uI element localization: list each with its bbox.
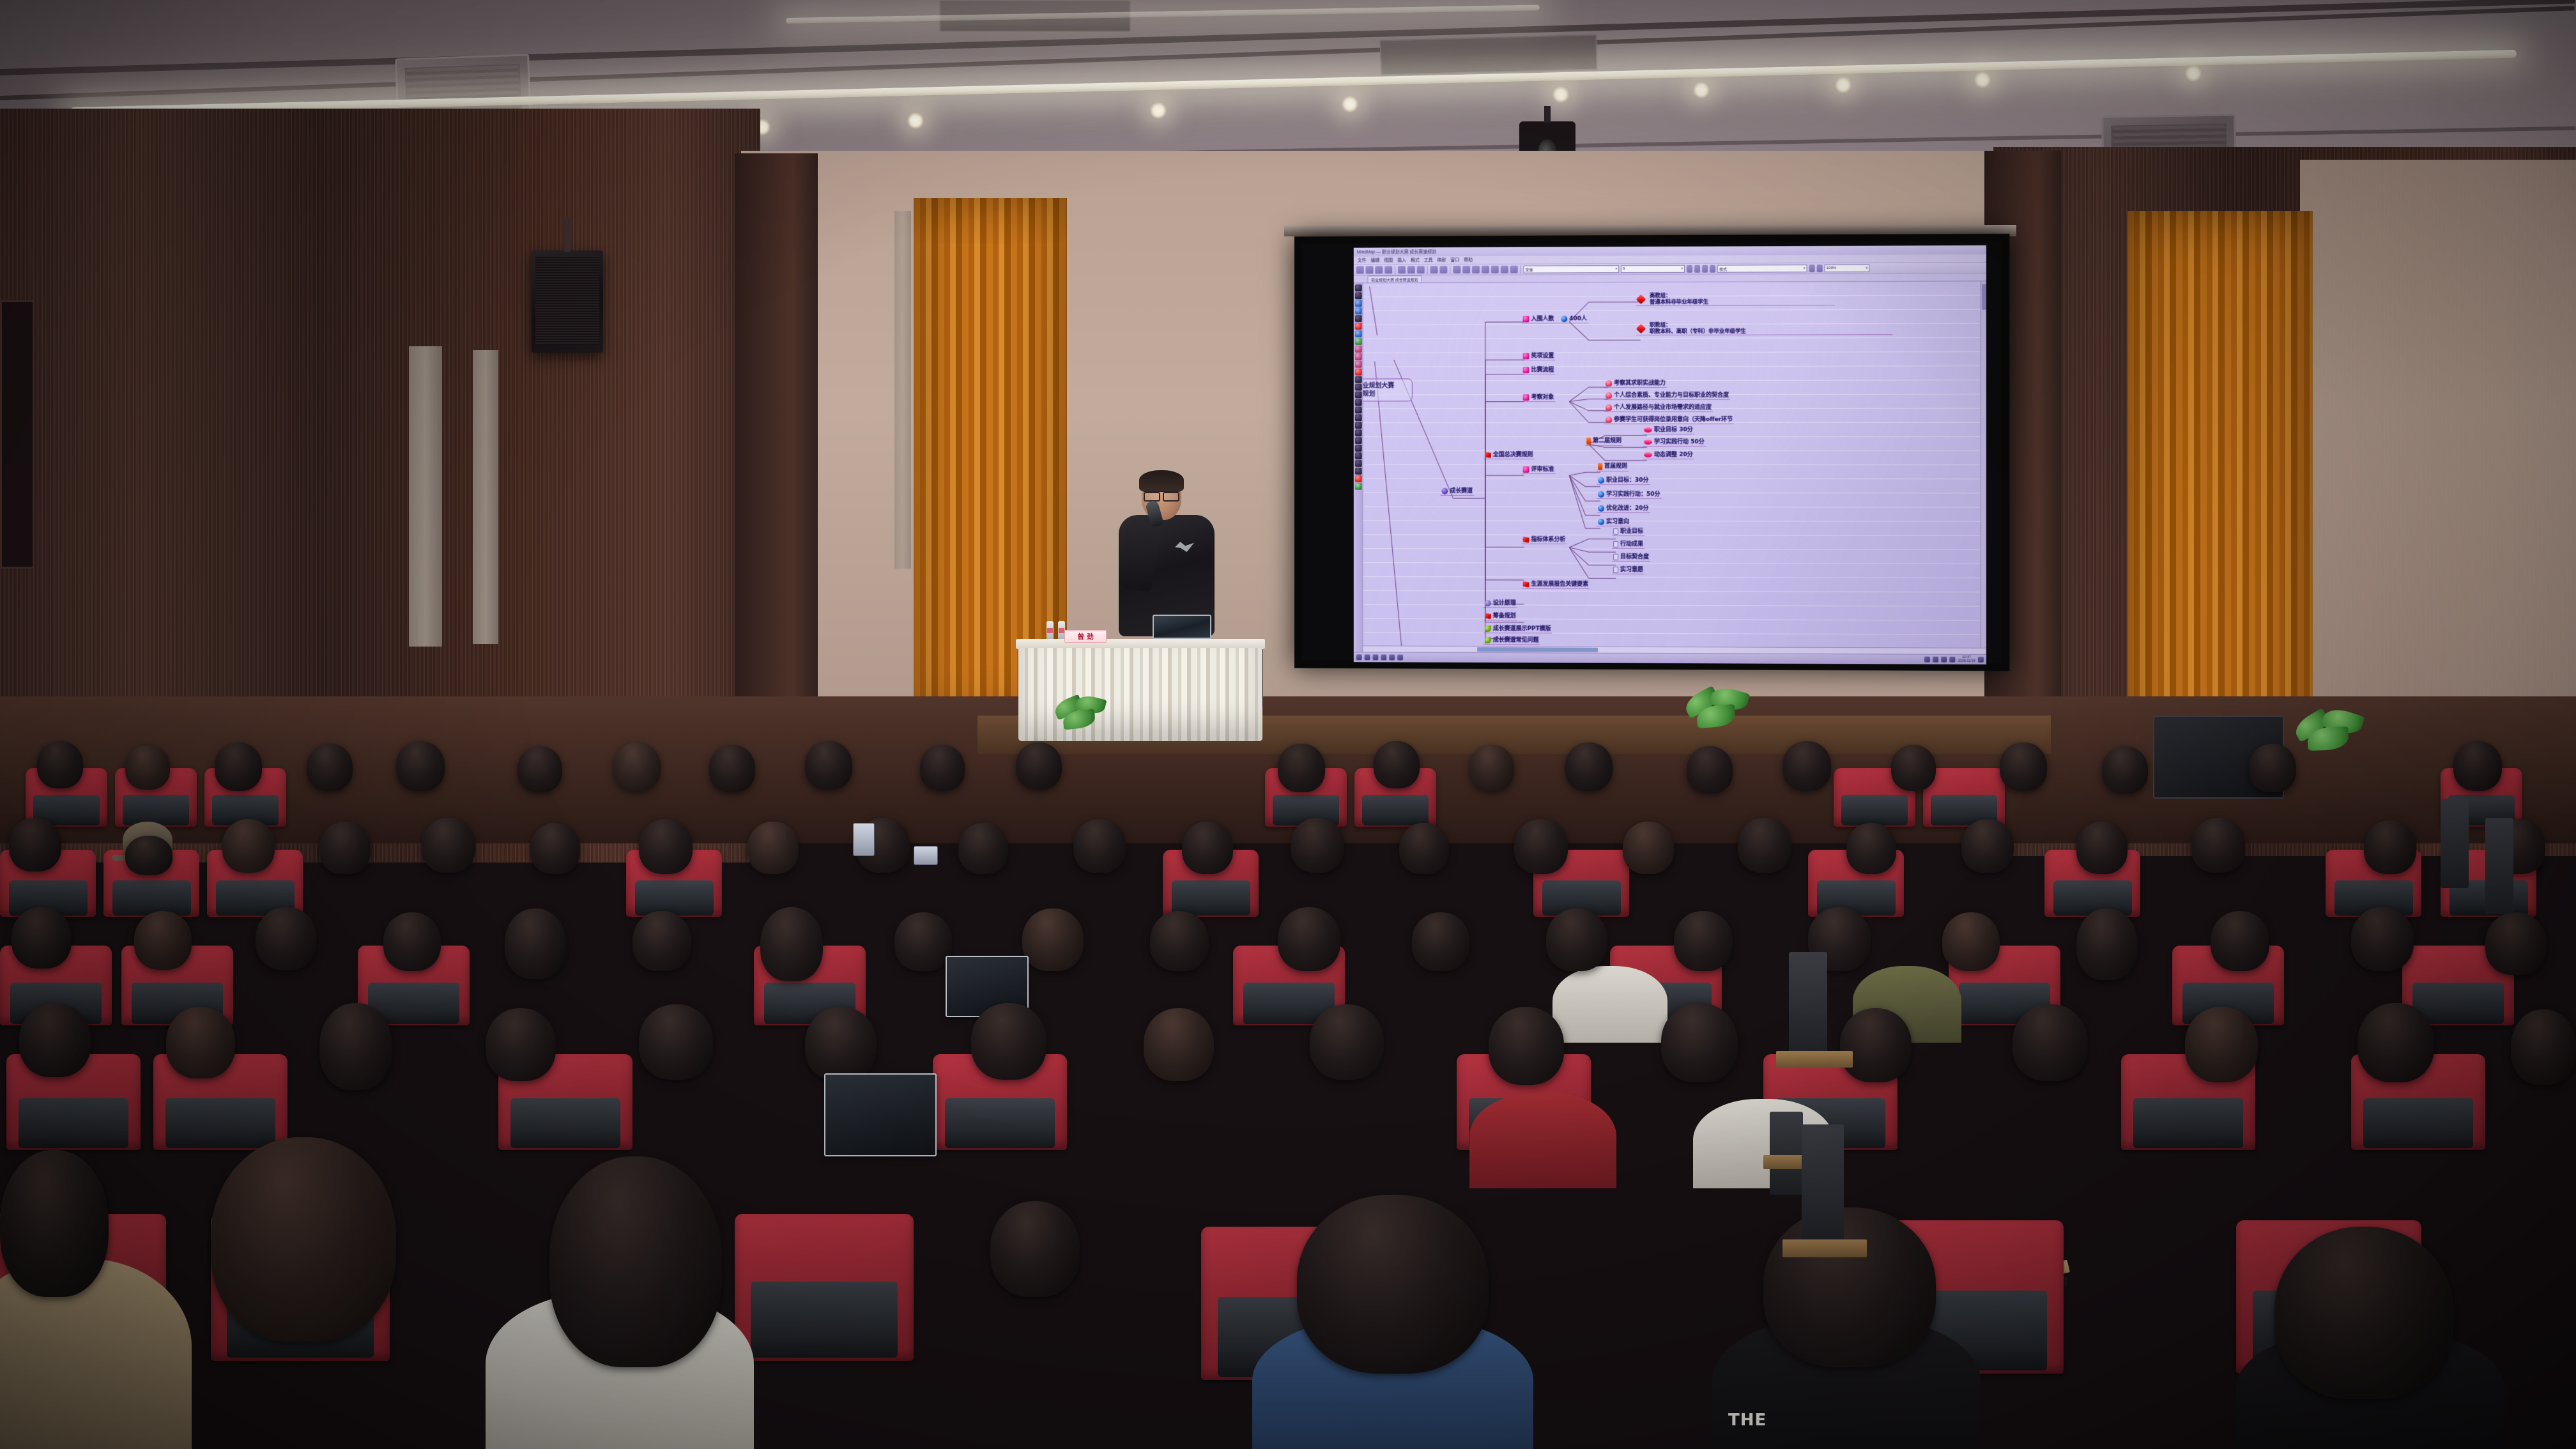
audience-head bbox=[383, 912, 441, 971]
index-tag-icon-1 bbox=[1613, 528, 1618, 535]
assess-item-4-label: 参赛学生可获得岗位录用意向（天降offer环节 bbox=[1614, 417, 1733, 423]
audience-head bbox=[805, 741, 852, 790]
audience-head bbox=[1763, 1207, 1936, 1367]
mindmap-node-bottom-1[interactable]: 设计原理 bbox=[1483, 600, 1517, 608]
downlight-12 bbox=[1150, 102, 1167, 119]
audience-head bbox=[1891, 745, 1936, 791]
audience-head bbox=[2485, 912, 2547, 975]
audience-head bbox=[1565, 742, 1613, 791]
audience-head bbox=[1687, 746, 1733, 793]
menu-item-format[interactable]: 格式 bbox=[1411, 257, 1420, 263]
audience-head bbox=[639, 1004, 713, 1080]
audience-head bbox=[2076, 822, 2127, 874]
downlight-10 bbox=[1974, 72, 1991, 88]
audience-head bbox=[709, 745, 755, 792]
canvas-vertical-scrollbar[interactable] bbox=[1981, 281, 1986, 654]
index-analysis-icon bbox=[1523, 537, 1529, 543]
menu-item-window[interactable]: 窗口 bbox=[1450, 257, 1459, 263]
audience-head bbox=[319, 822, 371, 874]
clipart-icon-12[interactable] bbox=[1354, 369, 1361, 376]
audience-head bbox=[211, 1137, 396, 1342]
entry-count-icon bbox=[1523, 316, 1529, 323]
rules-second-item-2-label: 学习实践行动 50分 bbox=[1654, 439, 1705, 445]
mindmap-node-awards[interactable]: 奖项设置 bbox=[1522, 353, 1556, 360]
mindmap-application-window[interactable]: MindMap — 职业规划大赛 成长赛道规划 文件 编辑 视图 插入 格式 工… bbox=[1354, 245, 1986, 664]
rules-second-oval-icon-1 bbox=[1644, 427, 1652, 433]
mindmap-node-rules-second-item-3[interactable]: 动态调整 20分 bbox=[1643, 452, 1694, 459]
audience-head bbox=[2249, 744, 2296, 792]
tray-ime-icon[interactable] bbox=[1949, 657, 1955, 663]
audience-head bbox=[307, 744, 353, 791]
audience-head bbox=[2351, 907, 2414, 971]
aisle-desk-arm-3 bbox=[2441, 799, 2469, 888]
clipart-icon-11[interactable] bbox=[1354, 361, 1361, 368]
menu-item-help[interactable]: 帮助 bbox=[1464, 257, 1473, 263]
hyperlink-icon[interactable] bbox=[1501, 266, 1508, 273]
mindmap-node-growth-track[interactable]: 成长赛道 bbox=[1440, 488, 1474, 496]
audience-head bbox=[613, 742, 661, 791]
clipart-icon-26[interactable] bbox=[1354, 475, 1361, 482]
mindmap-node-process-label: 比赛流程 bbox=[1531, 367, 1554, 373]
audience-head bbox=[517, 746, 562, 792]
boundary-icon[interactable] bbox=[1491, 266, 1499, 273]
bottom-item-2-label: 筹备规划 bbox=[1493, 613, 1516, 619]
mindmap-node-bottom-2[interactable]: 筹备规划 bbox=[1483, 613, 1517, 620]
mindmap-node-rules-first-item-3[interactable]: 优化改进：20分 bbox=[1597, 505, 1650, 513]
clipart-icon-21[interactable] bbox=[1354, 437, 1361, 444]
mindmap-root-label: 业规划大赛规划 bbox=[1363, 383, 1394, 398]
audience-head bbox=[1782, 741, 1831, 791]
menu-item-insert[interactable]: 插入 bbox=[1397, 257, 1406, 263]
rules-first-blue-icon-4 bbox=[1598, 519, 1604, 525]
clipart-icon-19[interactable] bbox=[1354, 422, 1361, 429]
audience-head bbox=[0, 1150, 109, 1297]
mindmap-node-index-analysis-label: 指标体系分析 bbox=[1531, 537, 1566, 543]
index-tag-icon-4 bbox=[1613, 567, 1618, 573]
clipart-icon-14[interactable] bbox=[1354, 384, 1361, 391]
mindmap-canvas[interactable]: 业规划大赛规划 成长赛道 全国总决赛规则 入围 bbox=[1363, 281, 1986, 654]
toolbar-separator-1 bbox=[1395, 266, 1395, 274]
style-select[interactable]: 样式 ▾ bbox=[1717, 264, 1807, 272]
rules-first-blue-icon-3 bbox=[1598, 505, 1604, 512]
paste-icon[interactable] bbox=[1417, 266, 1425, 273]
taskbar-apps[interactable] bbox=[1356, 654, 1403, 660]
mindmap-node-rules-first-item-2[interactable]: 学习实践行动：50分 bbox=[1597, 491, 1661, 499]
aisle-desk-top-2 bbox=[1782, 1239, 1867, 1257]
style-value: 样式 bbox=[1719, 266, 1727, 272]
chevron-down-icon-2: ▾ bbox=[1681, 267, 1683, 271]
add-subtopic-icon[interactable] bbox=[1462, 266, 1470, 273]
presenter-laptop[interactable] bbox=[1151, 615, 1213, 641]
save-icon[interactable] bbox=[1375, 266, 1383, 273]
show-desktop-button[interactable] bbox=[1978, 657, 1984, 663]
index-item-2-label: 行动成果 bbox=[1620, 541, 1643, 548]
audience-head bbox=[1399, 823, 1449, 874]
cut-icon[interactable] bbox=[1398, 266, 1406, 273]
new-file-icon[interactable] bbox=[1356, 266, 1364, 274]
mindmap-node-rules-first-item-4[interactable]: 实习意向 bbox=[1597, 519, 1630, 526]
mindmap-node-index-item-3[interactable]: 目标契合度 bbox=[1612, 554, 1650, 562]
ceiling-slot-right bbox=[1379, 34, 1597, 76]
audience-phone-raised-2[interactable] bbox=[914, 846, 938, 865]
mindmap-node-index-item-1[interactable]: 职业目标 bbox=[1612, 528, 1644, 536]
text-color-icon[interactable] bbox=[1710, 265, 1715, 273]
menu-item-edit[interactable]: 编辑 bbox=[1370, 257, 1379, 264]
audience-head bbox=[486, 1008, 556, 1081]
mindmap-root-node[interactable]: 业规划大赛规划 bbox=[1363, 379, 1413, 402]
mindmap-node-rules-first-item-1[interactable]: 职业目标：30分 bbox=[1597, 477, 1650, 485]
tab-active-document[interactable]: 职业规划大赛 成长赛道规划 bbox=[1368, 275, 1422, 282]
rules-first-item-4-label: 实习意向 bbox=[1606, 519, 1629, 525]
taskbar-app-icon-2[interactable] bbox=[1372, 654, 1378, 660]
audience-head bbox=[1942, 912, 2000, 971]
audience-head bbox=[422, 818, 475, 873]
audience-head long bbox=[2076, 908, 2138, 980]
audience-head bbox=[1961, 819, 2014, 873]
audience-head bbox=[1674, 911, 1733, 971]
rules-second-item-3-label: 动态调整 20分 bbox=[1654, 452, 1693, 458]
clipart-icon-15[interactable] bbox=[1354, 392, 1361, 399]
clipart-icon-4[interactable] bbox=[1354, 307, 1361, 314]
mindmap-node-report-key-label: 生涯发展报告关键要素 bbox=[1531, 581, 1589, 588]
wall-panel-light-3 bbox=[894, 211, 911, 569]
audience-head bbox=[958, 823, 1008, 874]
underline-icon[interactable] bbox=[1702, 265, 1708, 273]
aisle-desk-arm-1 bbox=[1789, 952, 1827, 1061]
assess-item-1-label: 考察其求职实战能力 bbox=[1614, 380, 1666, 387]
faq-icon bbox=[1485, 637, 1491, 643]
mindmap-node-assess-item-1[interactable]: 考察其求职实战能力 bbox=[1604, 380, 1667, 388]
criteria-icon bbox=[1523, 466, 1529, 473]
audience-head bbox=[2364, 820, 2416, 874]
audience-head bbox=[1278, 907, 1340, 971]
speaker-grille bbox=[535, 256, 599, 345]
group-higher-ed-body: 普通本科非毕业年级学生 bbox=[1650, 298, 1708, 305]
voc-ed-diamond-icon bbox=[1636, 324, 1646, 334]
clipart-sidebar[interactable] bbox=[1354, 283, 1363, 652]
seat-row-e: THE bbox=[0, 1131, 2576, 1449]
mindmap-node-index-item-2[interactable]: 行动成果 bbox=[1612, 541, 1644, 549]
taskbar-tray[interactable]: 10:37 2025/11/18 bbox=[1924, 655, 1984, 663]
audience-head bbox=[396, 741, 445, 791]
audience-head bbox=[1840, 1008, 1912, 1082]
mindmap-node-group-higher-ed[interactable]: 高教组： 普通本科非毕业年级学生 bbox=[1636, 292, 1835, 306]
mindmap-node-rules-first[interactable]: 首届规则 bbox=[1597, 463, 1629, 471]
audience-head bbox=[1489, 1007, 1564, 1085]
audience-head bbox=[1846, 823, 1896, 874]
audience-head bbox=[1182, 822, 1233, 874]
higher-ed-diamond-icon bbox=[1636, 295, 1646, 305]
copy-icon[interactable] bbox=[1407, 266, 1415, 273]
redo-icon[interactable] bbox=[1439, 266, 1447, 273]
open-file-icon[interactable] bbox=[1366, 266, 1374, 273]
audience-head bbox=[11, 907, 72, 969]
audience-head bbox=[9, 818, 61, 871]
audience-head bbox=[1297, 1195, 1489, 1374]
audience-head bbox=[1546, 908, 1607, 971]
clipart-icon-5[interactable] bbox=[1354, 315, 1361, 322]
mindmap-node-entry-count-label: 入围人数 bbox=[1531, 316, 1554, 322]
audience-head bbox=[2000, 742, 2047, 791]
seat[interactable] bbox=[735, 1214, 914, 1361]
stage-plant-left bbox=[1048, 696, 1124, 741]
rules-first-icon bbox=[1598, 463, 1602, 470]
taskbar-app-icon-5[interactable] bbox=[1397, 655, 1403, 661]
mindmap-node-report-key[interactable]: 生涯发展报告关键要素 bbox=[1522, 581, 1590, 590]
preparation-plan-icon bbox=[1485, 613, 1491, 619]
audience-shirt-text: THE bbox=[1728, 1411, 1767, 1430]
clipart-icon-23[interactable] bbox=[1354, 452, 1361, 459]
print-icon[interactable] bbox=[1384, 266, 1392, 273]
toolbar-separator-4 bbox=[1521, 265, 1521, 273]
audience-head long bbox=[505, 908, 566, 979]
clipart-icon-20[interactable] bbox=[1354, 429, 1361, 436]
rules-first-item-3-label: 优化改进：20分 bbox=[1606, 505, 1648, 512]
rules-second-icon bbox=[1586, 438, 1591, 445]
audience-head bbox=[134, 911, 192, 970]
mindmap-node-rules-second-item-2[interactable]: 学习实践行动 50分 bbox=[1643, 439, 1706, 447]
audience-head bbox=[256, 907, 317, 970]
mindmap-connector-lines bbox=[1363, 281, 1986, 654]
mindmap-node-criteria[interactable]: 评审标准 bbox=[1522, 466, 1556, 474]
delete-topic-icon[interactable] bbox=[1472, 266, 1480, 273]
mindmap-node-assess-item-3[interactable]: 个人发展路径与就业市场需求的适应度 bbox=[1604, 404, 1713, 412]
audience-head bbox=[166, 1007, 235, 1078]
clock-date: 2025/11/18 bbox=[1958, 659, 1975, 663]
assess-person-icon-4 bbox=[1606, 417, 1612, 423]
taskbar-clock[interactable]: 10:37 2025/11/18 bbox=[1958, 656, 1975, 664]
downlight-6 bbox=[907, 112, 924, 129]
mindmap-node-final-rules-label: 全国总决赛规则 bbox=[1493, 452, 1533, 458]
mindmap-node-rules-second-label: 第二届规则 bbox=[1593, 438, 1621, 444]
rules-second-item-1-label: 职业目标 30分 bbox=[1654, 427, 1693, 433]
clipart-icon-6[interactable] bbox=[1354, 323, 1361, 330]
assess-person-icon-2 bbox=[1606, 392, 1612, 399]
assess-target-icon bbox=[1523, 394, 1529, 401]
glasses-icon bbox=[1144, 491, 1179, 498]
clipart-icon-27[interactable] bbox=[1354, 483, 1361, 490]
downlight-11 bbox=[2185, 65, 2202, 82]
aisle-desk-top-1 bbox=[1776, 1051, 1853, 1068]
canvas-hscroll-thumb[interactable] bbox=[1477, 647, 1598, 652]
mindmap-node-final-rules[interactable]: 全国总决赛规则 bbox=[1483, 452, 1535, 459]
audience-head bbox=[1514, 819, 1568, 874]
rules-first-item-1-label: 职业目标：30分 bbox=[1606, 477, 1648, 484]
mindmap-node-process[interactable]: 比赛流程 bbox=[1522, 367, 1556, 374]
tray-volume-icon[interactable] bbox=[1941, 657, 1947, 663]
clipart-icon-7[interactable] bbox=[1354, 330, 1361, 337]
mindmap-node-index-item-4[interactable]: 实习意愿 bbox=[1612, 567, 1644, 574]
audience-head bbox=[1374, 741, 1420, 788]
audience-head bbox=[2102, 746, 2148, 793]
zoom-out-icon[interactable] bbox=[1817, 264, 1823, 272]
menu-item-tools[interactable]: 工具 bbox=[1424, 257, 1433, 263]
assess-person-icon-3 bbox=[1606, 404, 1612, 411]
downlight-13 bbox=[1342, 96, 1358, 112]
report-key-icon bbox=[1523, 581, 1529, 588]
audience-head long bbox=[319, 1003, 392, 1090]
audience-head bbox=[2453, 741, 2502, 791]
mindmap-node-growth-track-label: 成长赛道 bbox=[1450, 488, 1473, 494]
font-size-value: 9 bbox=[1623, 267, 1625, 271]
mindmap-node-awards-label: 奖项设置 bbox=[1531, 353, 1554, 359]
rules-first-item-2-label: 学习实践行动：50分 bbox=[1606, 491, 1660, 498]
water-bottle-1 bbox=[1046, 621, 1054, 640]
toolbar-separator-2 bbox=[1427, 266, 1428, 274]
audience-head bbox=[1310, 1004, 1384, 1080]
mindmap-node-bottom-3[interactable]: 成长赛道展示PPT模版 bbox=[1483, 625, 1552, 634]
menu-item-map[interactable]: 映射 bbox=[1437, 257, 1446, 263]
index-tag-icon-2 bbox=[1613, 541, 1618, 548]
mindmap-node-assess-target[interactable]: 考察对象 bbox=[1522, 394, 1556, 402]
bold-icon[interactable] bbox=[1687, 265, 1692, 273]
zoom-in-icon[interactable] bbox=[1809, 264, 1815, 272]
presenter-hair bbox=[1139, 470, 1184, 492]
clipart-icon-9[interactable] bbox=[1354, 346, 1361, 353]
index-tag-icon-3 bbox=[1613, 554, 1618, 560]
mindmap-node-entry-count-value: 400人 bbox=[1569, 316, 1587, 322]
menu-item-file[interactable]: 文件 bbox=[1358, 257, 1367, 264]
relationship-icon[interactable] bbox=[1482, 266, 1489, 273]
canvas-vscroll-thumb[interactable] bbox=[1982, 284, 1986, 309]
windows-taskbar[interactable]: 10:37 2025/11/18 bbox=[1354, 652, 1986, 664]
audience-phone-raised[interactable] bbox=[853, 823, 875, 856]
clipart-icon-8[interactable] bbox=[1354, 338, 1361, 345]
clipart-icon-2[interactable] bbox=[1354, 292, 1361, 299]
menu-item-view[interactable]: 视图 bbox=[1384, 257, 1393, 263]
audience-head bbox=[639, 819, 693, 874]
note-icon[interactable] bbox=[1510, 266, 1518, 273]
audience-head bbox=[894, 912, 952, 971]
wall-speaker bbox=[532, 250, 603, 353]
font-name-select[interactable]: 宋体 ▾ bbox=[1524, 265, 1619, 273]
auditorium-scene: MindMap — 职业规划大赛 成长赛道规划 文件 编辑 视图 插入 格式 工… bbox=[0, 0, 2576, 1449]
final-rules-icon bbox=[1485, 452, 1491, 458]
audience-head bbox=[2012, 1004, 2088, 1081]
audience-head bbox=[1022, 908, 1084, 971]
add-topic-icon[interactable] bbox=[1453, 266, 1460, 273]
audience-head bbox=[2511, 1009, 2576, 1085]
mindmap-node-assess-item-2[interactable]: 个人综合素质、专业能力与目标职业的契合度 bbox=[1604, 392, 1730, 401]
audience-head bbox=[1144, 1008, 1214, 1081]
audience-head bbox=[19, 1003, 91, 1077]
audience-head bbox=[125, 836, 172, 875]
taskbar-app-icon-1[interactable] bbox=[1365, 654, 1370, 660]
audience-head bbox=[747, 822, 799, 874]
clipart-icon-3[interactable] bbox=[1354, 300, 1361, 307]
index-item-4-label: 实习意愿 bbox=[1620, 567, 1643, 573]
audience-head bbox=[530, 823, 580, 874]
mindmap-node-group-voc-ed[interactable]: 职教组： 职教本科、高职（专科）非毕业年级学生 bbox=[1636, 321, 1892, 335]
audience-head bbox=[1150, 911, 1209, 971]
clipart-icon-25[interactable] bbox=[1354, 468, 1361, 475]
audience-head bbox=[2357, 1003, 2434, 1082]
font-size-select[interactable]: 9 ▾ bbox=[1621, 265, 1685, 273]
undo-icon[interactable] bbox=[1430, 266, 1438, 273]
app-title: MindMap — 职业规划大赛 成长赛道规划 bbox=[1357, 249, 1436, 255]
taskbar-app-icon-3[interactable] bbox=[1381, 654, 1386, 660]
process-icon bbox=[1523, 367, 1529, 373]
mindmap-node-assess-target-label: 考察对象 bbox=[1531, 394, 1554, 401]
audience-head bbox=[1738, 818, 1791, 873]
entry-count-value-icon bbox=[1561, 316, 1567, 322]
bottom-item-3-label: 成长赛道展示PPT模版 bbox=[1493, 625, 1551, 632]
wall-panel-light-1 bbox=[409, 346, 442, 647]
assess-person-icon-1 bbox=[1606, 380, 1612, 387]
clipart-icon-22[interactable] bbox=[1354, 445, 1361, 452]
clipart-icon-16[interactable] bbox=[1354, 399, 1361, 406]
audience-head bbox=[990, 1201, 1080, 1297]
clipart-icon-18[interactable] bbox=[1354, 414, 1361, 421]
audience-head bbox=[1469, 745, 1514, 791]
audience-head bbox=[2211, 911, 2269, 971]
tray-chevron-icon[interactable] bbox=[1924, 657, 1930, 663]
projection-screen: MindMap — 职业规划大赛 成长赛道规划 文件 编辑 视图 插入 格式 工… bbox=[1294, 234, 2009, 671]
mindmap-node-rules-second[interactable]: 第二届规则 bbox=[1585, 438, 1623, 446]
assess-item-2-label: 个人综合素质、专业能力与目标职业的契合度 bbox=[1614, 392, 1729, 399]
wall-far-right-beige bbox=[2300, 160, 2576, 786]
bottom-item-1-label: 设计原理 bbox=[1493, 600, 1516, 606]
mindmap-node-criteria-label: 评审标准 bbox=[1531, 466, 1554, 473]
mindmap-node-assess-item-4[interactable]: 参赛学生可获得岗位录用意向（天降offer环节 bbox=[1604, 417, 1734, 424]
clipart-icon-10[interactable] bbox=[1354, 353, 1361, 360]
clipart-icon-13[interactable] bbox=[1354, 376, 1361, 383]
downlight-7 bbox=[1552, 86, 1569, 103]
audience-head long bbox=[549, 1156, 722, 1367]
zoom-level-select[interactable]: 100% ▾ bbox=[1825, 264, 1869, 272]
audience-head bbox=[1016, 742, 1062, 790]
aisle-desk-arm-4 bbox=[2485, 818, 2513, 914]
mindmap-node-bottom-4[interactable]: 成长赛道常见问题 bbox=[1483, 637, 1540, 645]
taskbar-app-icon-4[interactable] bbox=[1389, 654, 1395, 660]
assess-item-3-label: 个人发展路径与就业市场需求的适应度 bbox=[1614, 404, 1712, 411]
wall-panel-light-2 bbox=[473, 350, 498, 644]
rules-second-oval-icon-2 bbox=[1644, 440, 1652, 445]
taskbar-start-icon[interactable] bbox=[1356, 654, 1362, 660]
clipart-icon-1[interactable] bbox=[1354, 284, 1361, 291]
clipart-icon-17[interactable] bbox=[1354, 406, 1361, 413]
downlight-8 bbox=[1693, 82, 1710, 98]
group-voc-ed-body: 职教本科、高职（专科）非毕业年级学生 bbox=[1650, 328, 1746, 334]
tray-network-icon[interactable] bbox=[1933, 657, 1938, 663]
design-principle-icon bbox=[1485, 600, 1491, 606]
mindmap-node-index-analysis[interactable]: 指标体系分析 bbox=[1522, 537, 1567, 544]
index-item-1-label: 职业目标 bbox=[1620, 528, 1643, 535]
awards-icon bbox=[1523, 353, 1529, 360]
rules-first-blue-icon-1 bbox=[1598, 477, 1604, 484]
audience-head bbox=[2191, 818, 2245, 873]
audience-head bbox=[1073, 819, 1126, 873]
audience-head bbox=[1291, 818, 1344, 873]
clipart-icon-24[interactable] bbox=[1354, 460, 1361, 467]
mindmap-node-entry-count[interactable]: 入围人数 400人 bbox=[1522, 316, 1588, 324]
aisle-desk-arm-2 bbox=[1802, 1124, 1844, 1252]
presenter-name: 曾 劲 bbox=[1077, 631, 1094, 641]
audience-head bbox=[805, 1007, 877, 1081]
audience-head bbox=[125, 745, 170, 790]
toolbar-separator-3 bbox=[1450, 266, 1450, 274]
italic-icon[interactable] bbox=[1694, 265, 1700, 273]
mindmap-node-rules-second-item-1[interactable]: 职业目标 30分 bbox=[1643, 427, 1694, 434]
zoom-level-value: 100% bbox=[1827, 266, 1836, 270]
audience-head bbox=[222, 819, 275, 873]
door-left[interactable] bbox=[0, 300, 34, 569]
audience-head bbox=[215, 742, 262, 791]
audience-head bbox=[1623, 822, 1674, 874]
app-body: 业规划大赛规划 成长赛道 全国总决赛规则 入围 bbox=[1354, 281, 1986, 654]
downlight-9 bbox=[1835, 77, 1851, 93]
audience-head bbox=[37, 741, 83, 788]
